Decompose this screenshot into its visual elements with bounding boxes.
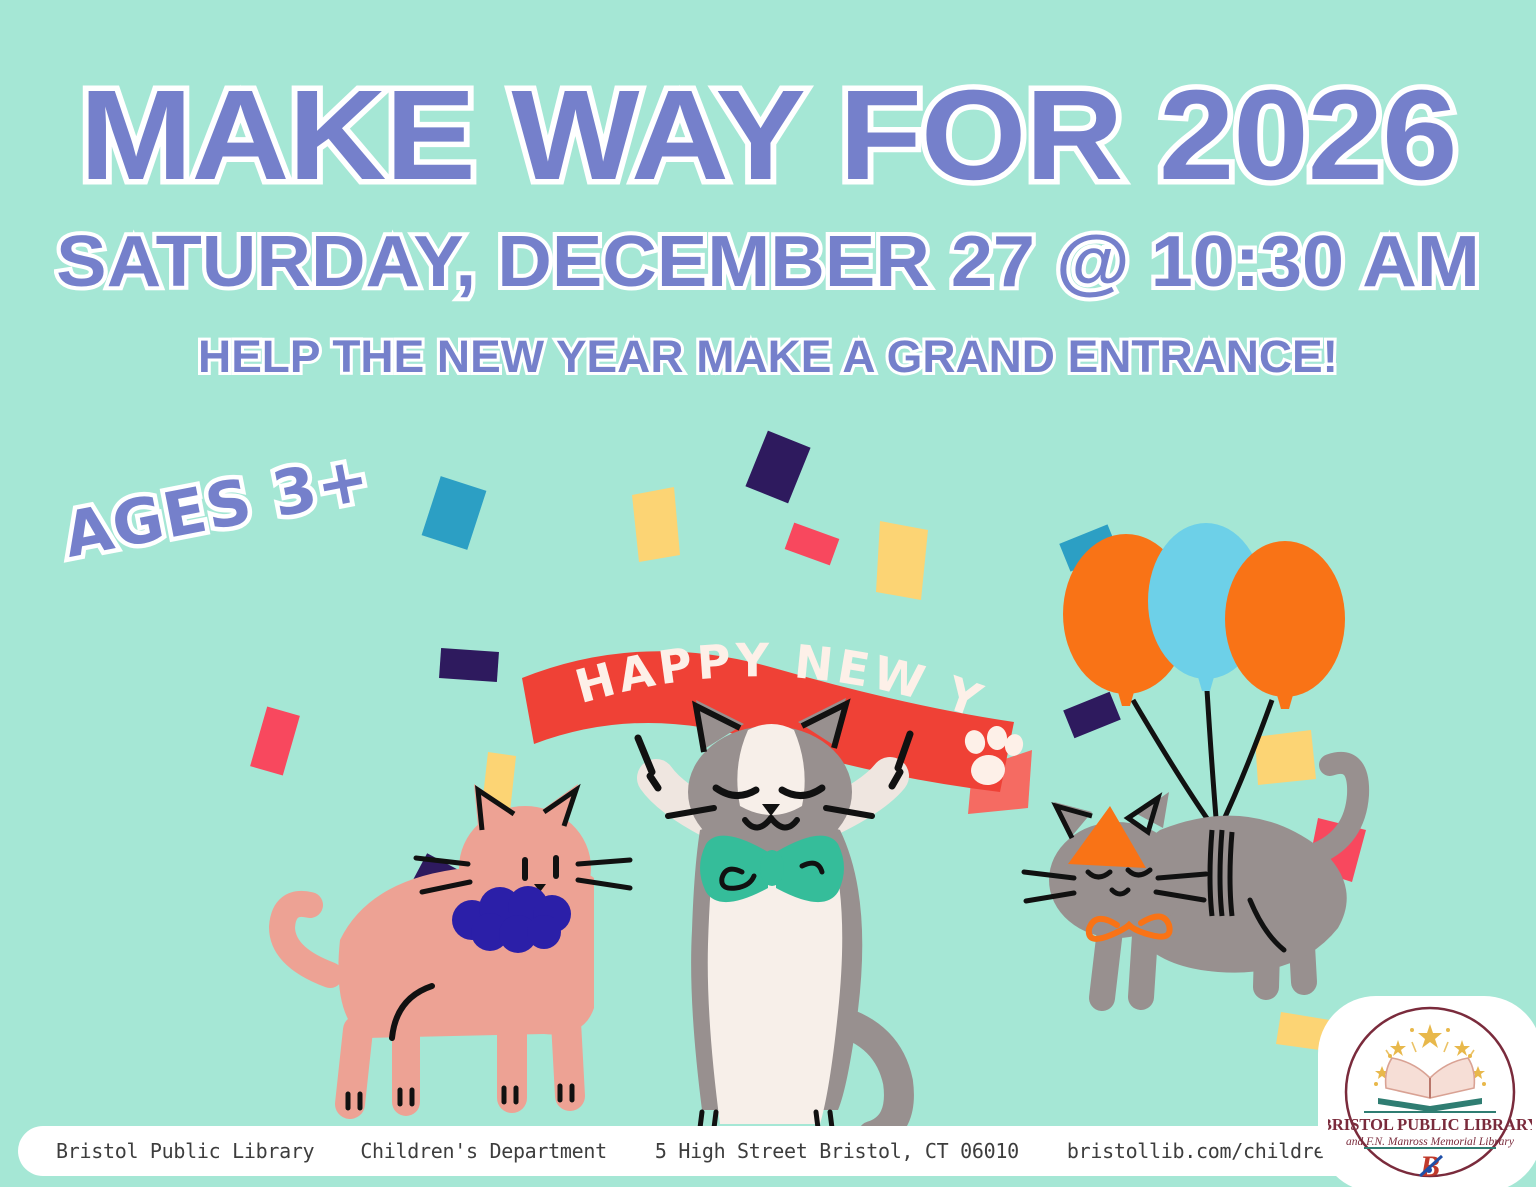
library-logo: BRISTOL PUBLIC LIBRARY and F.N. Manross …: [1328, 1000, 1532, 1187]
footer-department: Children's Department: [360, 1139, 607, 1163]
poster-canvas: HAPPY NEW YEAR: [0, 0, 1536, 1187]
footer-website[interactable]: bristollib.com/children: [1067, 1139, 1337, 1163]
footer-library-name: Bristol Public Library: [56, 1139, 314, 1163]
open-book-icon: [1378, 1058, 1482, 1112]
event-date-line: SATURDAY, DECEMBER 27 @ 10:30 AM: [0, 226, 1536, 298]
event-subtitle: HELP THE NEW YEAR MAKE A GRAND ENTRANCE!: [0, 334, 1536, 379]
footer-address: 5 High Street Bristol, CT 06010: [655, 1139, 1019, 1163]
headline-block: MAKE WAY FOR 2026 SATURDAY, DECEMBER 27 …: [0, 0, 1536, 379]
logo-title: BRISTOL PUBLIC LIBRARY: [1328, 1115, 1532, 1134]
footer-bar: Bristol Public Library Children's Depart…: [18, 1126, 1438, 1176]
logo-monogram: B: [1419, 1150, 1442, 1183]
page-title: MAKE WAY FOR 2026: [0, 72, 1536, 200]
logo-subtitle: and F.N. Manross Memorial Library: [1346, 1136, 1515, 1148]
